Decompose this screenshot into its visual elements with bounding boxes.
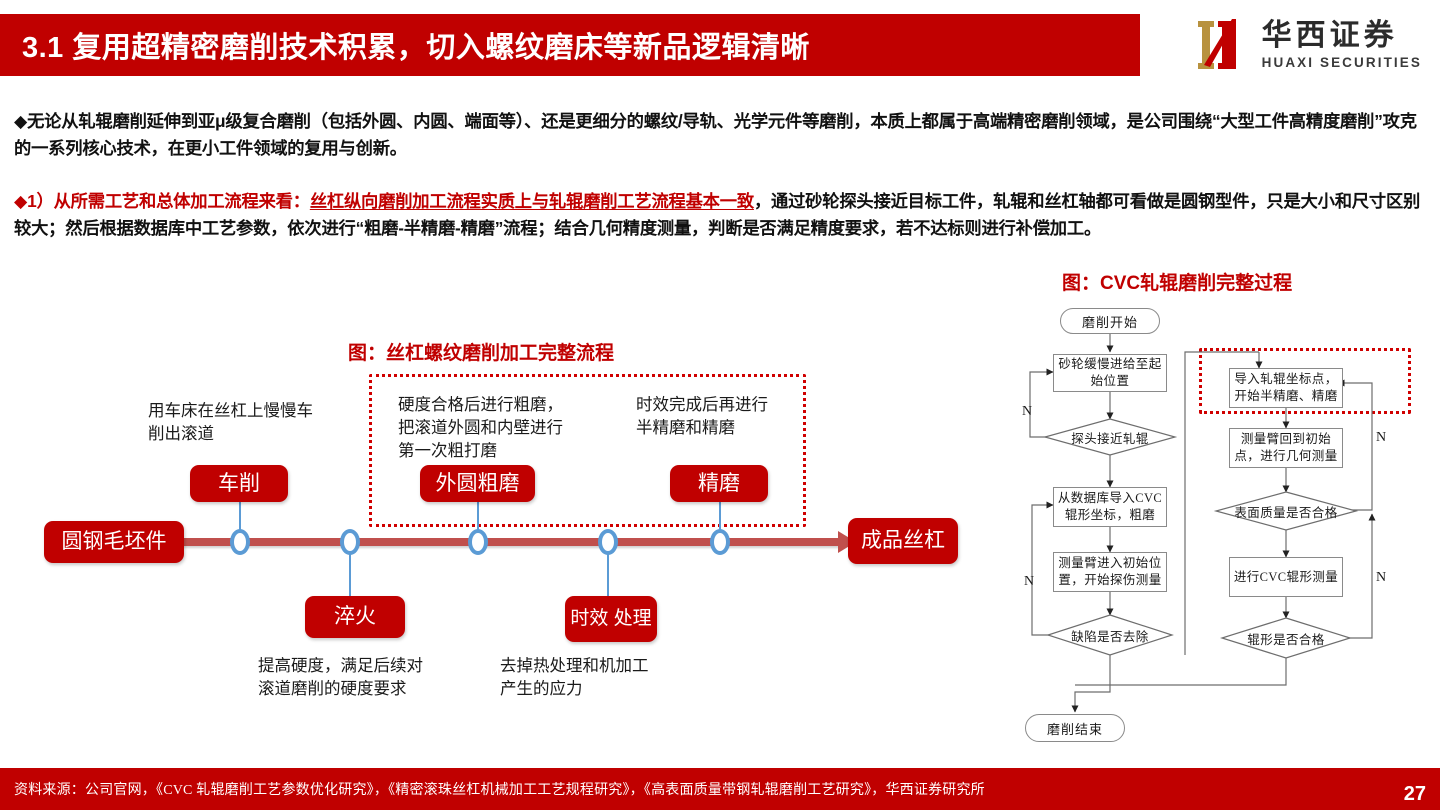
- process-box-cuihuo[interactable]: 淬火: [305, 596, 405, 638]
- process-box-shixiaoChuli[interactable]: 时效 处理: [565, 596, 657, 642]
- branch-label-n-1: N: [1024, 574, 1034, 590]
- process-box-cheXiao[interactable]: 车削: [190, 465, 288, 502]
- header-bar: 3.1 复用超精密磨削技术积累，切入螺纹磨床等新品逻辑清晰: [0, 14, 1140, 76]
- timeline-node-4[interactable]: [710, 529, 730, 555]
- flowchart-box-right-3: 进行CVC辊形测量: [1229, 557, 1343, 597]
- flowchart-box-right-0: 导入轧辊坐标点， 开始半精磨、精磨: [1229, 368, 1343, 408]
- flowchart-end-terminal: 磨削结束: [1025, 714, 1125, 742]
- timeline-node-2[interactable]: [468, 529, 488, 555]
- brand-logo: 华西证券 HUAXI SECURITIES: [1192, 14, 1422, 76]
- flowchart-box-left-3: 测量臂进入初始位 置，开始探伤测量: [1053, 552, 1167, 592]
- flowchart-box-right-1: 测量臂回到初始 点，进行几何测量: [1229, 428, 1343, 468]
- flowchart-decision-left-4: 缺陷是否去除: [1048, 626, 1172, 644]
- left-note-bottom-0: 提高硬度，满足后续对 滚道磨削的硬度要求: [258, 655, 458, 701]
- process-box-waiyuanCumo[interactable]: 外圆粗磨: [420, 465, 535, 502]
- flowchart-start-terminal: 磨削开始: [1060, 308, 1160, 334]
- right-figure-title: 图：CVC轧辊磨削完整过程: [1062, 268, 1292, 295]
- source-note: 资料来源：公司官网，《CVC 轧辊磨削工艺参数优化研究》，《精密滚珠丝杠机械加工…: [0, 779, 985, 799]
- paragraph-2-lead: ◆1）从所需工艺和总体加工流程来看：: [14, 191, 310, 211]
- brand-name-en: HUAXI SECURITIES: [1262, 55, 1422, 70]
- stem-up-2: [719, 501, 721, 531]
- branch-label-n-2: N: [1376, 430, 1386, 446]
- process-box-jingmo[interactable]: 精磨: [670, 465, 768, 502]
- huaxi-logo-icon: [1192, 17, 1250, 73]
- left-figure-title: 图：丝杠螺纹磨削加工完整流程: [348, 338, 614, 365]
- stem-up-1: [477, 501, 479, 531]
- flowchart-box-left-2: 从数据库导入CVC 辊形坐标，粗磨: [1053, 487, 1167, 527]
- stem-up-0: [239, 501, 241, 531]
- brand-name-cn: 华西证券: [1262, 20, 1422, 52]
- timeline-axis: [175, 538, 845, 546]
- timeline-node-0[interactable]: [230, 529, 250, 555]
- flowchart-decision-left-1: 探头接近轧辊: [1045, 428, 1175, 446]
- timeline-end-box[interactable]: 成品丝杠: [848, 518, 958, 564]
- left-note-top-0: 用车床在丝杠上慢慢车 削出滚道: [148, 400, 358, 446]
- paragraph-2: ◆1）从所需工艺和总体加工流程来看：丝杠纵向磨削加工流程实质上与轧辊磨削工艺流程…: [14, 188, 1428, 242]
- left-note-top-2: 时效完成后再进行 半精磨和精磨: [636, 394, 816, 440]
- timeline-start-box[interactable]: 圆钢毛坯件: [44, 521, 184, 563]
- stem-down-0: [349, 552, 351, 598]
- stem-down-1: [607, 552, 609, 598]
- paragraph-2-underlined: 丝杠纵向磨削加工流程实质上与轧辊磨削工艺流程基本一致: [310, 191, 754, 211]
- flowchart-decision-right-4: 辊形是否合格: [1222, 629, 1350, 647]
- flowchart-decision-right-2: 表面质量是否合格: [1216, 502, 1356, 520]
- flowchart-box-left-0: 砂轮缓慢进给至起 始位置: [1053, 354, 1167, 392]
- left-note-bottom-1: 去掉热处理和机加工 产生的应力: [500, 655, 680, 701]
- page-number: 27: [1404, 783, 1426, 806]
- branch-label-n-3: N: [1376, 570, 1386, 586]
- left-note-top-1: 硬度合格后进行粗磨， 把滚道外圆和内壁进行 第一次粗打磨: [398, 394, 628, 463]
- page-title: 3.1 复用超精密磨削技术积累，切入螺纹磨床等新品逻辑清晰: [0, 24, 810, 66]
- footer-bar: 资料来源：公司官网，《CVC 轧辊磨削工艺参数优化研究》，《精密滚珠丝杠机械加工…: [0, 768, 1440, 810]
- brand-text: 华西证券 HUAXI SECURITIES: [1262, 20, 1422, 70]
- branch-label-n-0: N: [1022, 404, 1032, 420]
- paragraph-1: ◆无论从轧辊磨削延伸到亚μ级复合磨削（包括外圆、内圆、端面等）、还是更细分的螺纹…: [14, 108, 1428, 162]
